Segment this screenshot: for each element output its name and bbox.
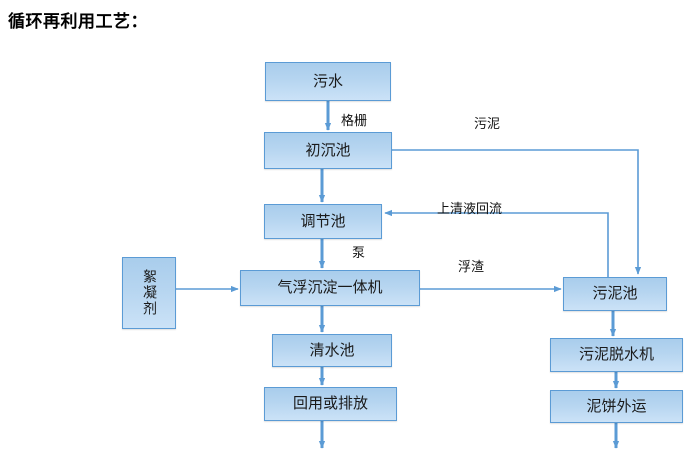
node-sludge-dewaterer[interactable]: 污泥脱水机 bbox=[550, 338, 683, 372]
node-flotation-unit[interactable]: 气浮沉淀一体机 bbox=[240, 270, 420, 306]
node-sludge-tank[interactable]: 污泥池 bbox=[563, 277, 667, 311]
edge-label-grating: 格栅 bbox=[341, 110, 367, 129]
edge-label-scum: 浮渣 bbox=[458, 256, 484, 275]
edge-label-pump: 泵 bbox=[352, 242, 365, 261]
connector-sludge-tank-to-regulating bbox=[385, 213, 608, 277]
flowchart-canvas: 循环再利用工艺： 污水 bbox=[0, 0, 700, 450]
edge-label-sludge: 污泥 bbox=[474, 113, 500, 132]
node-wastewater[interactable]: 污水 bbox=[265, 62, 391, 101]
node-primary-tank[interactable]: 初沉池 bbox=[264, 132, 392, 169]
connector-primary-to-sludge-tank bbox=[392, 150, 638, 274]
edge-label-supernatant: 上清液回流 bbox=[437, 198, 502, 217]
node-regulating-tank[interactable]: 调节池 bbox=[264, 204, 382, 239]
node-reuse-discharge[interactable]: 回用或排放 bbox=[264, 387, 397, 421]
node-clean-water-tank[interactable]: 清水池 bbox=[272, 334, 392, 367]
page-title: 循环再利用工艺： bbox=[8, 7, 148, 32]
node-flocculant[interactable]: 絮凝剂 bbox=[122, 257, 176, 329]
node-cake-transport[interactable]: 泥饼外运 bbox=[550, 390, 683, 423]
